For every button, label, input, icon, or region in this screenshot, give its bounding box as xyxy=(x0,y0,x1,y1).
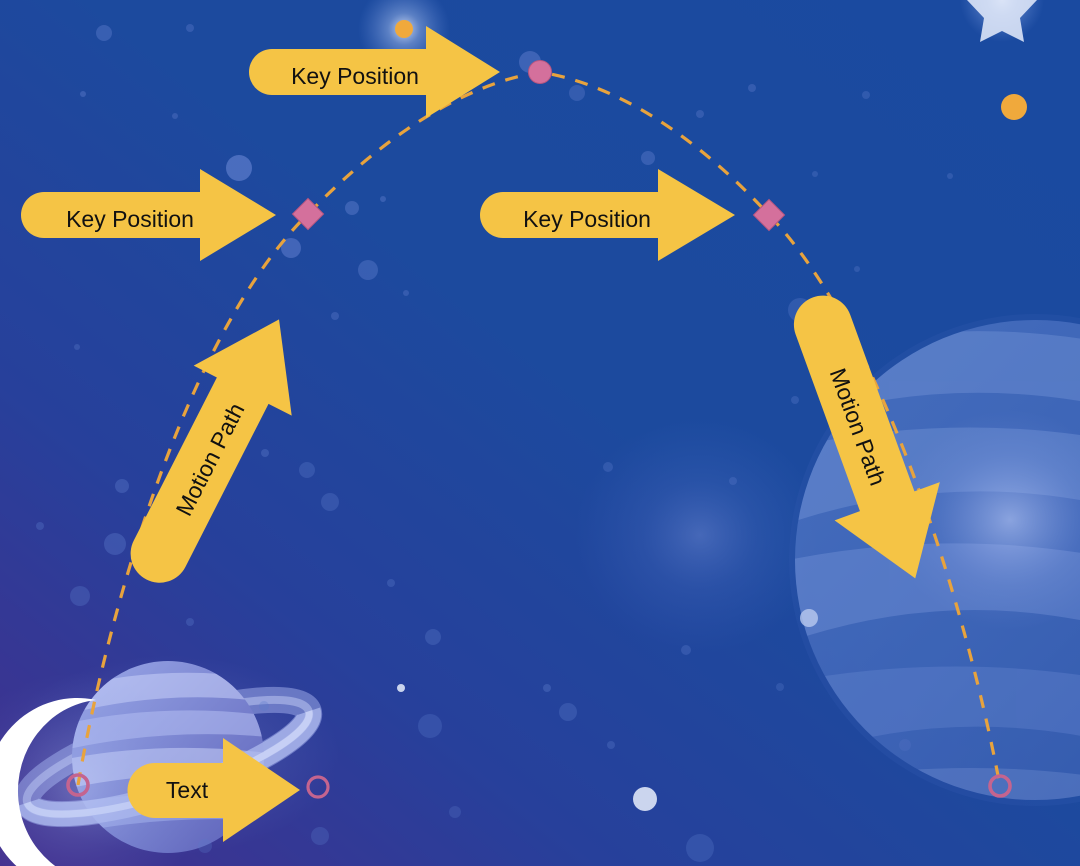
callout-key-position-top-label: Key Position xyxy=(291,63,419,89)
diagram-canvas: Key Position Key Position Key Position M… xyxy=(0,0,1080,866)
callout-motion-path-left[interactable]: Motion Path xyxy=(97,294,328,604)
motion-path-diagram: Key Position Key Position Key Position M… xyxy=(0,0,1080,866)
callout-motion-path-right[interactable]: Motion Path xyxy=(760,278,968,597)
text-target-ring[interactable] xyxy=(308,777,328,797)
callout-text-bottom-label: Text xyxy=(166,777,209,803)
key-marker-2-circle[interactable] xyxy=(529,61,552,84)
callout-key-position-left-label: Key Position xyxy=(66,206,194,232)
callout-text-bottom[interactable]: Text xyxy=(128,738,301,842)
callout-key-position-left[interactable]: Key Position xyxy=(21,169,276,261)
end-marker[interactable] xyxy=(990,776,1010,796)
callout-key-position-right[interactable]: Key Position xyxy=(480,169,735,261)
callout-key-position-top[interactable]: Key Position xyxy=(249,26,500,118)
callout-key-position-right-label: Key Position xyxy=(523,206,651,232)
